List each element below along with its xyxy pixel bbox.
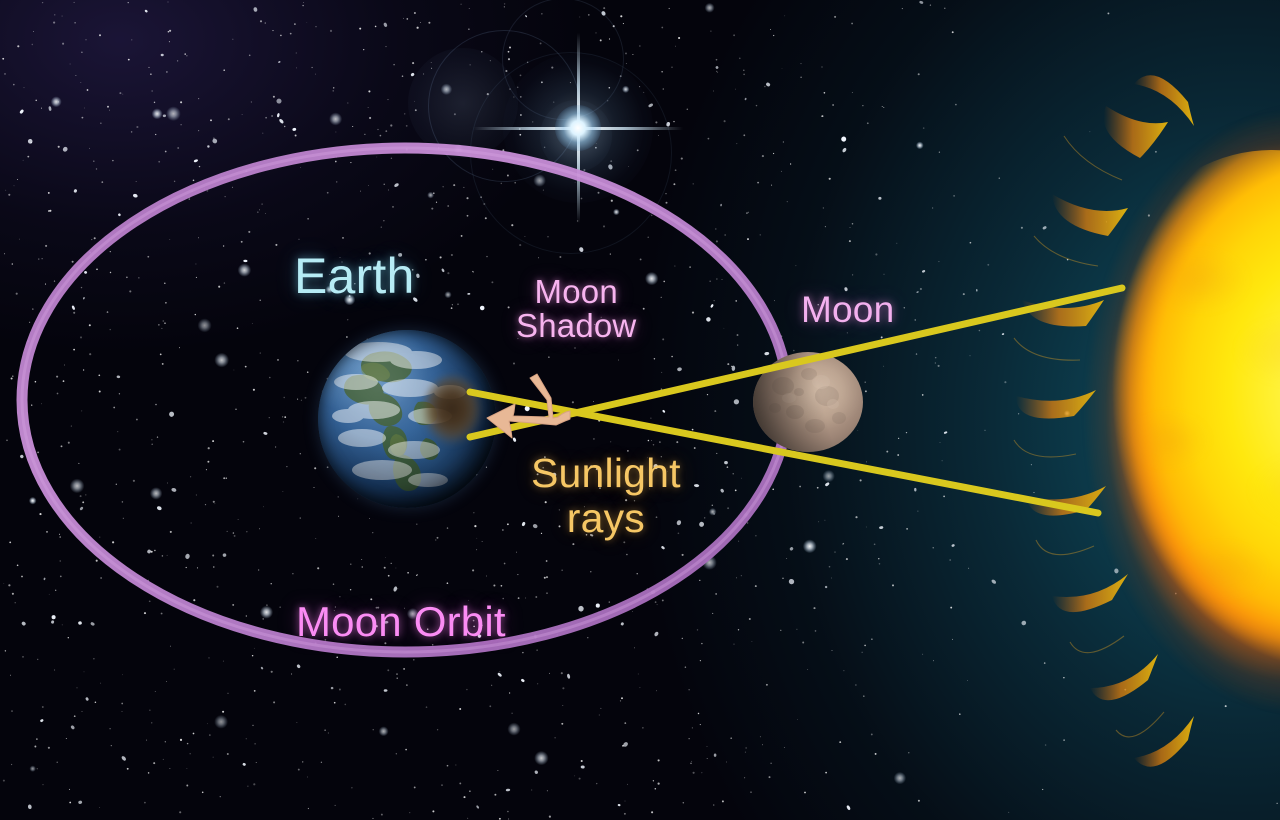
earth-globe — [318, 330, 496, 508]
label-moon-shadow-line1: Moon — [516, 275, 636, 309]
umbra-shadow-spot — [422, 374, 484, 446]
label-moon-orbit: Moon Orbit — [296, 600, 506, 644]
moon-shading — [753, 352, 863, 452]
label-sunlight-line2: rays — [531, 497, 681, 540]
nebula-haze — [0, 0, 1280, 820]
earth — [318, 330, 496, 508]
moon — [753, 352, 863, 452]
label-moon-shadow: Moon Shadow — [516, 275, 636, 344]
label-moon: Moon — [801, 291, 894, 329]
label-sunlight-line1: Sunlight — [531, 452, 681, 495]
label-earth: Earth — [294, 250, 415, 302]
label-sunlight-rays: Sunlight rays — [531, 452, 681, 539]
eclipse-diagram: Earth Moon Shadow Moon Sunlight rays Moo… — [0, 0, 1280, 820]
label-moon-shadow-line2: Shadow — [516, 309, 636, 343]
moon-globe — [753, 352, 863, 452]
